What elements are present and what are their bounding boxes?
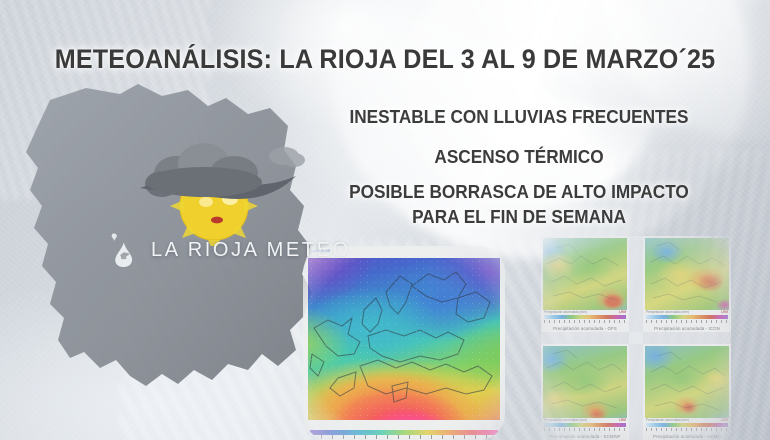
water-drop-globe-icon <box>108 230 142 270</box>
precip-map-2 <box>645 238 729 310</box>
precip-map-4 <box>645 346 729 418</box>
precip-quadrant-2[interactable]: Precipitación acumulada (mm) LRM Precipi… <box>643 236 731 332</box>
precip-caption-1: Precipitación acumulada - GFS <box>541 326 629 331</box>
model-map-panel[interactable]: GFS 0.25 <box>303 246 505 440</box>
precip-horizontal-separator <box>541 332 731 344</box>
precip-scale-label-2: Precipitación acumulada (mm) <box>646 310 689 314</box>
precip-quadrant-1[interactable]: Precipitación acumulada (mm) LRM Precipi… <box>541 236 629 332</box>
precip-scale-label-4: Precipitación acumulada (mm) <box>646 418 689 422</box>
precip-quadrant-4[interactable]: Precipitación acumulada (mm) LRM Precipi… <box>643 344 731 440</box>
precip-badge-3: LRM <box>619 418 626 422</box>
precip-badge-4: LRM <box>721 418 728 422</box>
precip-scale-label-3: Precipitación acumulada (mm) <box>544 418 587 422</box>
meteo-analysis-graphic: METEOANÁLISIS: LA RIOJA DEL 3 AL 9 DE MA… <box>0 0 770 440</box>
precip-map-3 <box>543 346 627 418</box>
precip-colorbar-2 <box>646 315 728 319</box>
precip-caption-4: Precipitación acumulada - UKMO <box>643 434 731 439</box>
model-map-grid-dots <box>308 258 500 420</box>
summary-line-4: PARA EL FIN DE SEMANA <box>334 206 704 228</box>
precip-scale-label-1: Precipitación acumulada (mm) <box>544 310 587 314</box>
precip-coastlines-4 <box>645 346 729 418</box>
precip-colorbar-4 <box>646 423 728 427</box>
precip-colorbar-ticks-4 <box>646 428 728 431</box>
precip-quad-panel[interactable]: Precipitación acumulada (mm) LRM Precipi… <box>541 236 731 440</box>
precip-caption-2: Precipitación acumulada - ICON <box>643 326 731 331</box>
precip-badge-2: LRM <box>721 310 728 314</box>
precip-coastlines-3 <box>543 346 627 418</box>
precip-colorbar-ticks-2 <box>646 320 728 323</box>
model-map-header: GFS 0.25 <box>311 248 331 253</box>
precip-colorbar-ticks-1 <box>544 320 626 323</box>
precip-colorbar-3 <box>544 423 626 427</box>
precip-coastlines-1 <box>543 238 627 310</box>
model-map-frame: GFS 0.25 <box>303 246 505 440</box>
storm-cloud-sun-icon <box>118 128 308 246</box>
model-map-plot <box>308 258 500 420</box>
model-map-colorbar-ticks <box>310 435 498 439</box>
precip-quadrant-3[interactable]: Precipitación acumulada (mm) LRM Precipi… <box>541 344 629 440</box>
precip-badge-1: LRM <box>619 310 626 314</box>
summary-line-3: POSIBLE BORRASCA DE ALTO IMPACTO <box>334 181 704 203</box>
precip-colorbar-ticks-3 <box>544 428 626 431</box>
precip-colorbar-1 <box>544 315 626 319</box>
precip-coastlines-2 <box>645 238 729 310</box>
page-title: METEOANÁLISIS: LA RIOJA DEL 3 AL 9 DE MA… <box>27 44 743 75</box>
summary-line-1: INESTABLE CON LLUVIAS FRECUENTES <box>334 106 704 128</box>
precip-map-1 <box>543 238 627 310</box>
precip-caption-3: Precipitación acumulada - ECMWF <box>541 434 629 439</box>
summary-line-2: ASCENSO TÉRMICO <box>334 146 704 168</box>
